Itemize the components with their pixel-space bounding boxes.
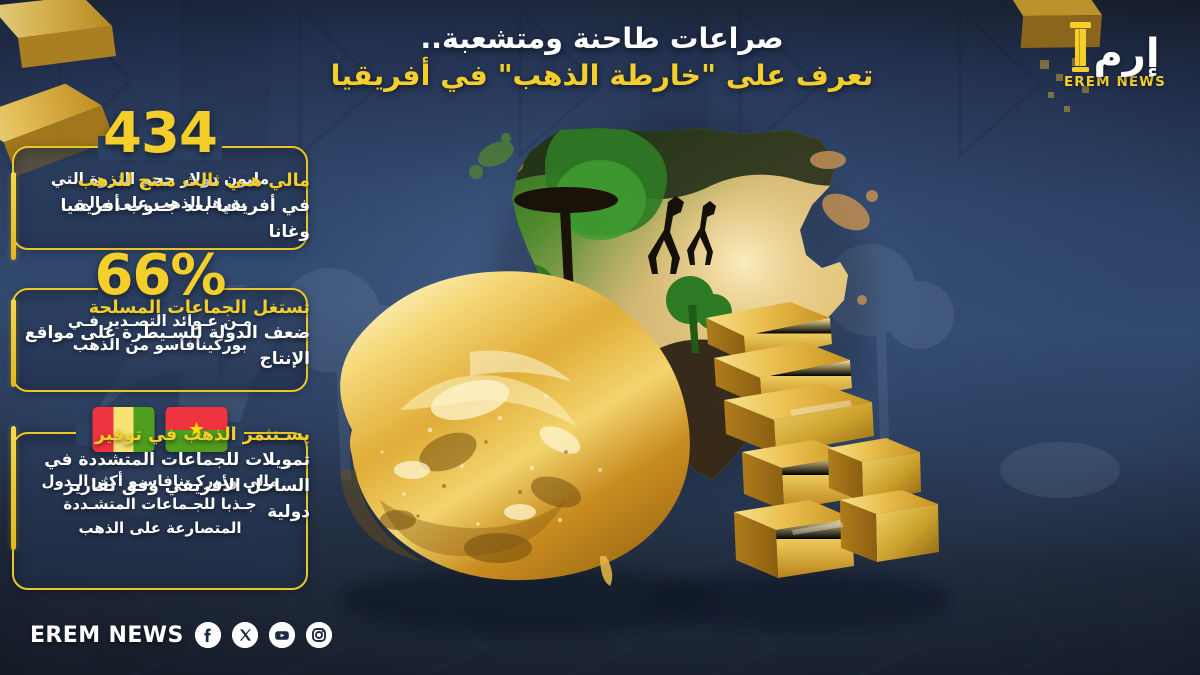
youtube-icon[interactable]: [269, 622, 295, 648]
stat-number: 434: [14, 106, 306, 162]
fact-accent-bar: [11, 426, 16, 550]
title-line-2: تعرف على "خارطة الذهب" في أفريقيا: [322, 59, 882, 94]
header-title: صراعات طاحنة ومتشعبة.. تعرف على "خارطة ا…: [322, 22, 882, 94]
fact-highlight: يسـتثمر الذهب في توفير: [16, 422, 310, 448]
facebook-icon[interactable]: [195, 622, 221, 648]
logo-arabic-text: إرم: [1093, 35, 1159, 73]
footer-bar: EREM NEWS: [0, 615, 340, 655]
footer-brand: EREM NEWS: [30, 623, 184, 648]
instagram-icon[interactable]: [306, 622, 332, 648]
logo-mark: إرم: [1052, 17, 1178, 73]
fact-text: في أفريقيا بعد جـنوب أفريقيا وغانا: [16, 194, 310, 246]
fact-item: تستغل الجماعات المسلحة ضعف الدولة للسـيط…: [0, 295, 332, 393]
facts-list: مالي هـي ثالث منتج للذهب في أفريقيا بعد …: [0, 168, 332, 581]
fact-highlight: تستغل الجماعات المسلحة: [16, 295, 310, 321]
fact-accent-bar: [11, 299, 16, 387]
column-icon: [1070, 22, 1091, 72]
fact-highlight: مالي هـي ثالث منتج للذهب: [16, 168, 310, 194]
fact-text: تمويلات للجماعات المتشددة في الساحل الأف…: [16, 448, 310, 525]
fact-item: يسـتثمر الذهب في توفير تمويلات للجماعات …: [0, 422, 332, 552]
infographic-canvas: صراعات طاحنة ومتشعبة.. تعرف على "خارطة ا…: [0, 0, 1200, 675]
title-line-1: صراعات طاحنة ومتشعبة..: [322, 22, 882, 57]
fact-text: ضعف الدولة للسـيطرة على مواقع الإنتاج: [16, 321, 310, 373]
x-twitter-icon[interactable]: [232, 622, 258, 648]
erem-news-logo[interactable]: إرم EREM NEWS: [1052, 17, 1178, 90]
fact-accent-bar: [11, 172, 16, 260]
fact-item: مالي هـي ثالث منتج للذهب في أفريقيا بعد …: [0, 168, 332, 266]
